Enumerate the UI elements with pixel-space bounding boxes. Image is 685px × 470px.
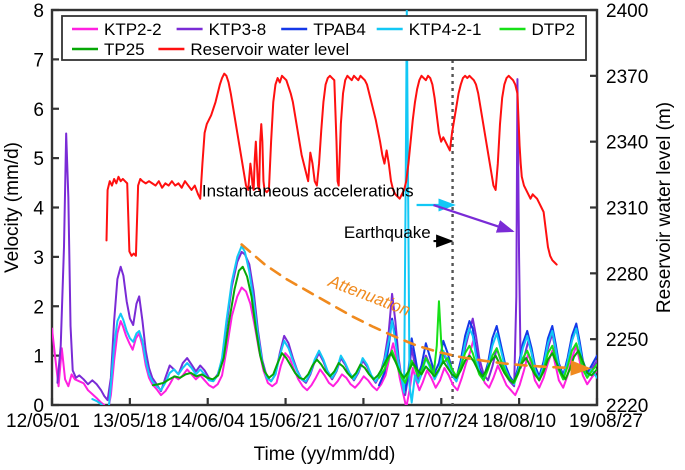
legend-label: TP25 <box>104 40 145 59</box>
x-tick-label: 16/07/07 <box>326 411 400 432</box>
y2-tick-label: 2340 <box>606 133 648 154</box>
y2-tick-label: 2280 <box>606 264 648 285</box>
series-line-ktp4-2-1 <box>92 10 597 420</box>
y-tick-label: 3 <box>33 248 44 269</box>
x-axis-title: Time (yy/mm/dd) <box>254 444 396 465</box>
y-tick-label: 2 <box>33 297 44 318</box>
annotation-attenuation: Attenuation <box>325 271 413 320</box>
series-line-ktp3-8 <box>57 79 597 400</box>
legend-label: KTP2-2 <box>104 20 162 39</box>
legend-label: KTP4-2-1 <box>409 20 482 39</box>
legend-label: DTP2 <box>532 20 575 39</box>
y-tick-label: 5 <box>33 149 44 170</box>
chart-figure: 012345678222022502280231023402370240012/… <box>0 0 685 470</box>
series-group <box>52 10 597 420</box>
x-tick-label: 13/05/18 <box>93 411 167 432</box>
annotation-earthquake: Earthquake <box>344 223 431 242</box>
legend-label: TPAB4 <box>313 20 366 39</box>
x-tick-label: 12/05/01 <box>6 411 80 432</box>
y-axis-title: Velocity (mm/d) <box>2 142 23 273</box>
series-line-attenuation <box>242 245 589 369</box>
x-tick-label: 19/08/27 <box>569 411 643 432</box>
series-line-reservoir-water-level <box>107 74 557 265</box>
legend-label: KTP3-8 <box>209 20 267 39</box>
y2-axis-title: Reservoir water level (m) <box>654 102 675 313</box>
arrow-purple-spike <box>434 205 513 231</box>
y-tick-label: 6 <box>33 100 44 121</box>
y2-tick-label: 2310 <box>606 199 648 220</box>
x-tick-label: 18/08/10 <box>482 411 556 432</box>
annotation-instantaneous-accelerations: Instantaneous accelerations <box>202 182 414 201</box>
y-tick-label: 4 <box>33 199 44 220</box>
x-tick-label: 17/07/24 <box>404 411 478 432</box>
legend-label: Reservoir water level <box>190 40 349 59</box>
y-tick-label: 8 <box>33 1 44 22</box>
y2-tick-label: 2250 <box>606 330 648 351</box>
y-tick-label: 7 <box>33 50 44 71</box>
y2-tick-label: 2370 <box>606 67 648 88</box>
velocity-reservoir-chart: 012345678222022502280231023402370240012/… <box>0 0 685 470</box>
x-tick-label: 15/06/21 <box>249 411 323 432</box>
x-tick-label: 14/06/04 <box>171 411 245 432</box>
y-tick-label: 1 <box>33 347 44 368</box>
y2-tick-label: 2400 <box>606 1 648 22</box>
